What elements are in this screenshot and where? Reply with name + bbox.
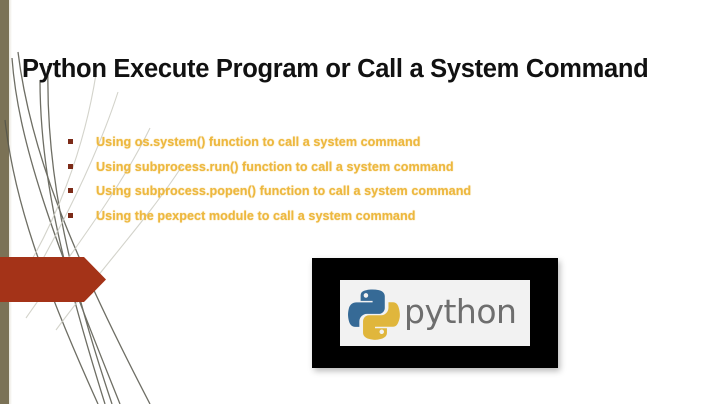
left-accent-bar [0, 0, 9, 404]
list-item: Using subprocess.popen() function to cal… [68, 179, 668, 204]
list-item: Using subprocess.run() function to call … [68, 155, 668, 180]
bullet-item-label: Using os.system() function to call a sys… [96, 135, 420, 149]
bullet-item-label: Using the pexpect module to call a syste… [96, 209, 415, 223]
list-item: Using os.system() function to call a sys… [68, 130, 668, 155]
bullet-item-label: Using subprocess.run() function to call … [96, 160, 454, 174]
left-accent-bar-edge [9, 0, 12, 404]
bullet-square-icon [68, 139, 73, 144]
slide-title: Python Execute Program or Call a System … [22, 54, 714, 85]
list-item: Using the pexpect module to call a syste… [68, 204, 668, 229]
bullet-square-icon [68, 213, 73, 218]
bullet-square-icon [68, 164, 73, 169]
bullet-list: Using os.system() function to call a sys… [68, 130, 668, 228]
python-logo-frame: python [312, 258, 558, 368]
bullet-item-label: Using subprocess.popen() function to cal… [96, 184, 471, 198]
slide-canvas: Python Execute Program or Call a System … [0, 0, 720, 404]
python-logo-icon [346, 286, 400, 340]
python-wordmark: python [404, 295, 516, 328]
python-logo-panel: python [340, 280, 530, 346]
bullet-square-icon [68, 188, 73, 193]
arrow-banner-shape [0, 257, 106, 302]
